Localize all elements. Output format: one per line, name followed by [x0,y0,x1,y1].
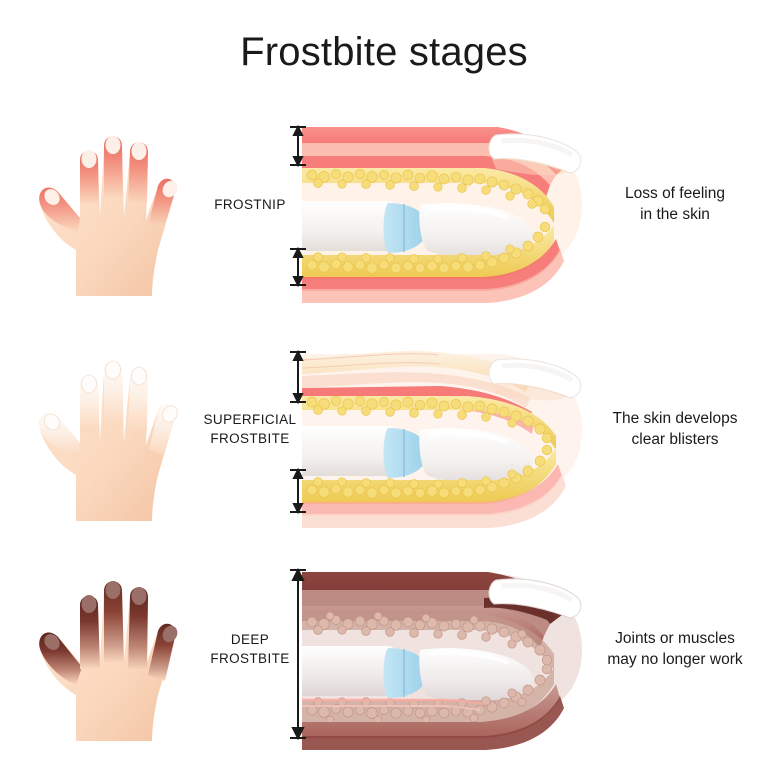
caption-line: in the skin [640,205,710,226]
stage-label-line: FROSTBITE [210,430,289,449]
caption-line: The skin develops [613,409,738,430]
finger-cross-section-superficial-frostbite [288,330,590,530]
finger-tissue-layers [302,127,582,303]
finger-tissue-layers [302,572,582,750]
stage-label-line: SUPERFICIAL [204,411,297,430]
caption-line: Joints or muscles [615,629,735,650]
finger-cross-section-deep-frostbite [288,550,590,750]
finger-tissue-layers [302,351,582,528]
hand-shape [39,361,180,521]
stage-label-line: FROSTBITE [210,650,289,669]
caption-line: clear blisters [632,430,719,451]
stage-caption-deep-frostbite: Joints or muscles may no longer work [585,545,765,755]
fingernail [489,359,581,401]
hand-deep-frostbite [18,545,218,755]
stage-caption-superficial-frostbite: The skin develops clear blisters [585,325,765,535]
hand-shape [39,581,180,741]
stage-row-deep-frostbite: DEEP FROSTBITE [0,545,768,765]
page-title: Frostbite stages [0,30,768,75]
fingernail [489,134,581,176]
stage-label-line: FROSTNIP [214,196,285,215]
hand-frostnip [18,100,218,310]
hand-superficial-frostbite [18,325,218,535]
stage-row-superficial-frostbite: SUPERFICIAL FROSTBITE [0,325,768,545]
stage-row-frostnip: FROSTNIP [0,100,768,320]
stage-caption-frostnip: Loss of feeling in the skin [585,100,765,310]
caption-line: Loss of feeling [625,184,725,205]
stage-label-line: DEEP [231,631,269,650]
frostbite-stages-infographic: Frostbite stages [0,0,768,768]
hand-shape [39,136,180,296]
caption-line: may no longer work [607,650,742,671]
finger-cross-section-frostnip [288,105,590,305]
